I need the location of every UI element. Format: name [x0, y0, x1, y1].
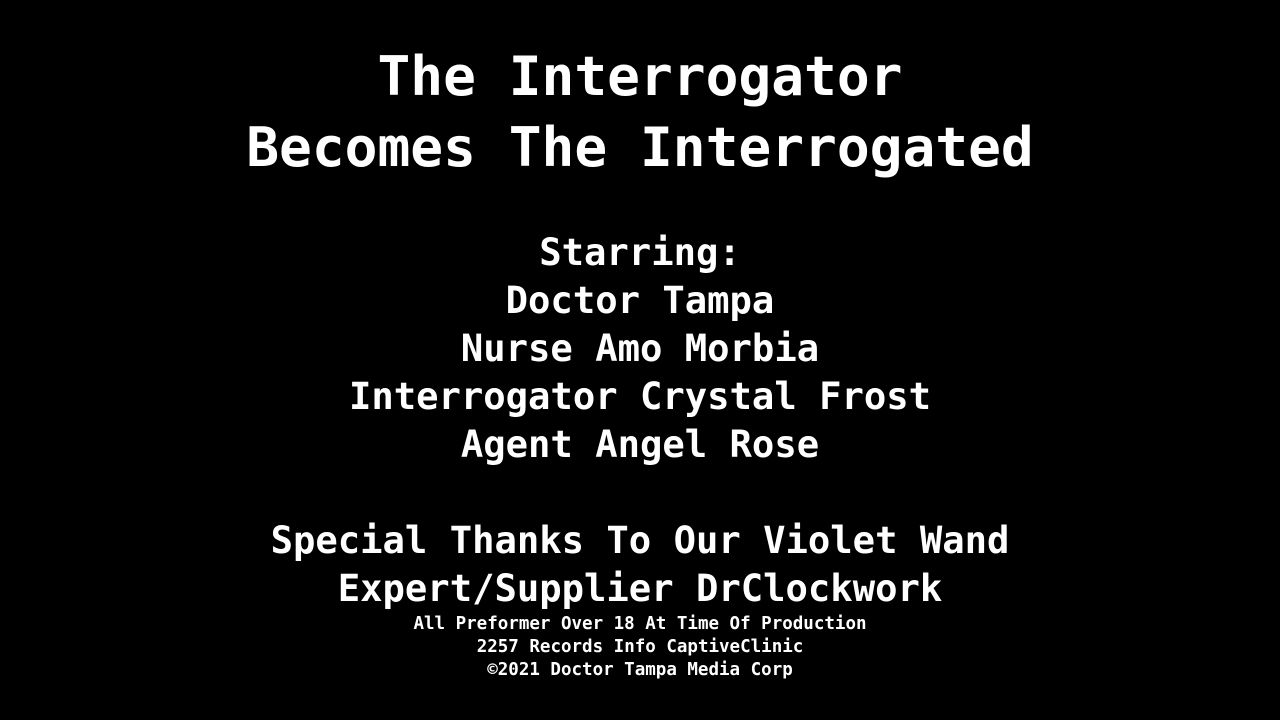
performer-age-disclaimer: All Preformer Over 18 At Time Of Product…	[0, 613, 1280, 636]
special-thanks-line-2: Expert/Supplier DrClockwork	[0, 564, 1280, 612]
title-block: The Interrogator Becomes The Interrogate…	[0, 0, 1280, 183]
credits-screen: The Interrogator Becomes The Interrogate…	[0, 0, 1280, 720]
cast-member: Agent Angel Rose	[0, 420, 1280, 468]
special-thanks-line-1: Special Thanks To Our Violet Wand	[0, 516, 1280, 564]
copyright-notice: ©2021 Doctor Tampa Media Corp	[0, 659, 1280, 682]
title-line-1: The Interrogator	[0, 41, 1280, 112]
cast-heading: Starring:	[0, 228, 1280, 276]
cast-member: Nurse Amo Morbia	[0, 324, 1280, 372]
cast-block: Starring: Doctor Tampa Nurse Amo Morbia …	[0, 228, 1280, 468]
records-info-notice: 2257 Records Info CaptiveClinic	[0, 636, 1280, 659]
footer-block: All Preformer Over 18 At Time Of Product…	[0, 613, 1280, 682]
title-line-2: Becomes The Interrogated	[0, 112, 1280, 183]
cast-member: Doctor Tampa	[0, 276, 1280, 324]
cast-member: Interrogator Crystal Frost	[0, 372, 1280, 420]
special-thanks-block: Special Thanks To Our Violet Wand Expert…	[0, 516, 1280, 612]
